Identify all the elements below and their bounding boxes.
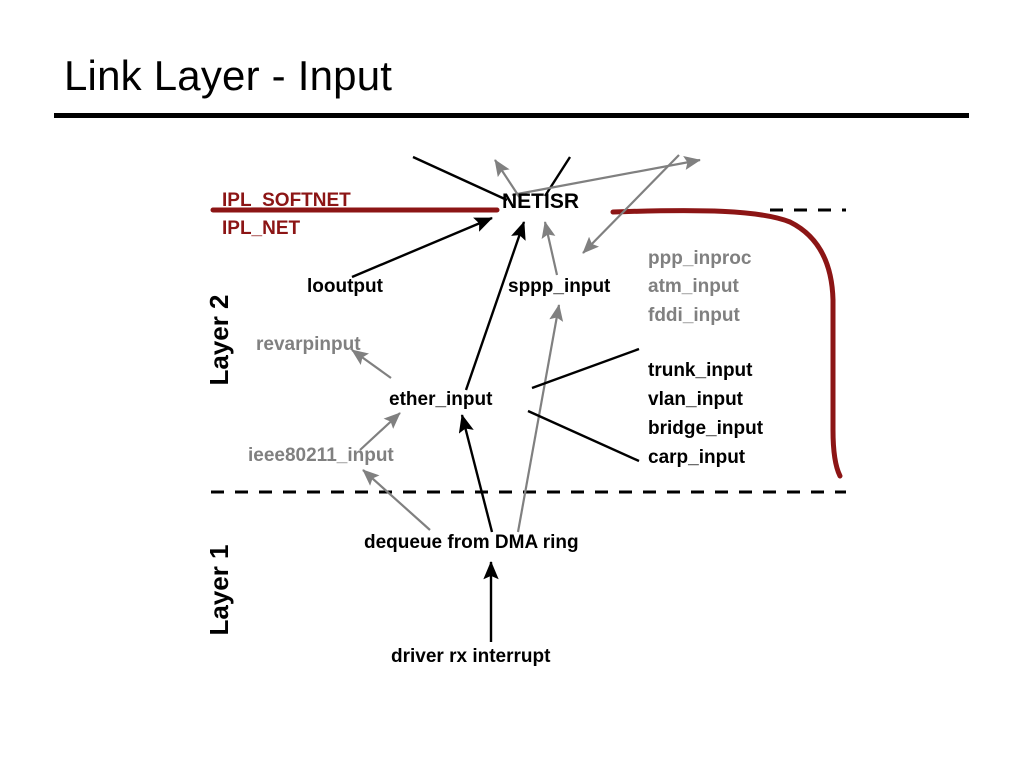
node-fddi-input: fddi_input [648, 305, 740, 326]
edge-dequeue-to-ether-input [462, 415, 492, 532]
label-ipl-net: IPL_NET [222, 218, 301, 239]
node-looutput: looutput [307, 276, 384, 297]
node-trunk-input: trunk_input [648, 360, 753, 381]
node-ppp-inproc: ppp_inproc [648, 248, 752, 269]
edge-dequeue-to-sppp-input [518, 305, 559, 532]
edge-ether-input-to-netisr [466, 222, 524, 390]
edge-dequeue-to-ieee80211-input [363, 470, 430, 530]
label-ipl-softnet: IPL_SOFTNET [222, 190, 351, 211]
node-bridge-input: bridge_input [648, 418, 764, 439]
edge-netisr-to-upper-left [413, 157, 507, 200]
node-dequeue-from-dma-ring: dequeue from DMA ring [364, 532, 579, 553]
node-ether-input: ether_input [389, 389, 493, 410]
node-sppp-input: sppp_input [508, 276, 611, 297]
slide-canvas: Link Layer - Input [0, 0, 1024, 768]
edge-ether-input-to-bridge-carp-group [528, 411, 639, 461]
node-vlan-input: vlan_input [648, 389, 744, 410]
label-layer-2: Layer 2 [204, 294, 234, 385]
node-atm-input: atm_input [648, 276, 739, 297]
edge-upper-right-to-ppp-group [583, 155, 679, 253]
node-revarpinput: revarpinput [256, 334, 361, 355]
label-layer-1: Layer 1 [204, 544, 234, 635]
edge-looutput-to-netisr [352, 218, 492, 277]
node-driver-rx-interrupt: driver rx interrupt [391, 646, 551, 667]
node-ieee80211-input: ieee80211_input [248, 445, 394, 466]
edge-sppp-input-to-netisr [545, 222, 557, 275]
link-layer-input-diagram: IPL_SOFTNET IPL_NET Layer 2 Layer 1 NETI… [0, 0, 1024, 768]
node-netisr: NETISR [502, 190, 579, 213]
node-carp-input: carp_input [648, 447, 746, 468]
